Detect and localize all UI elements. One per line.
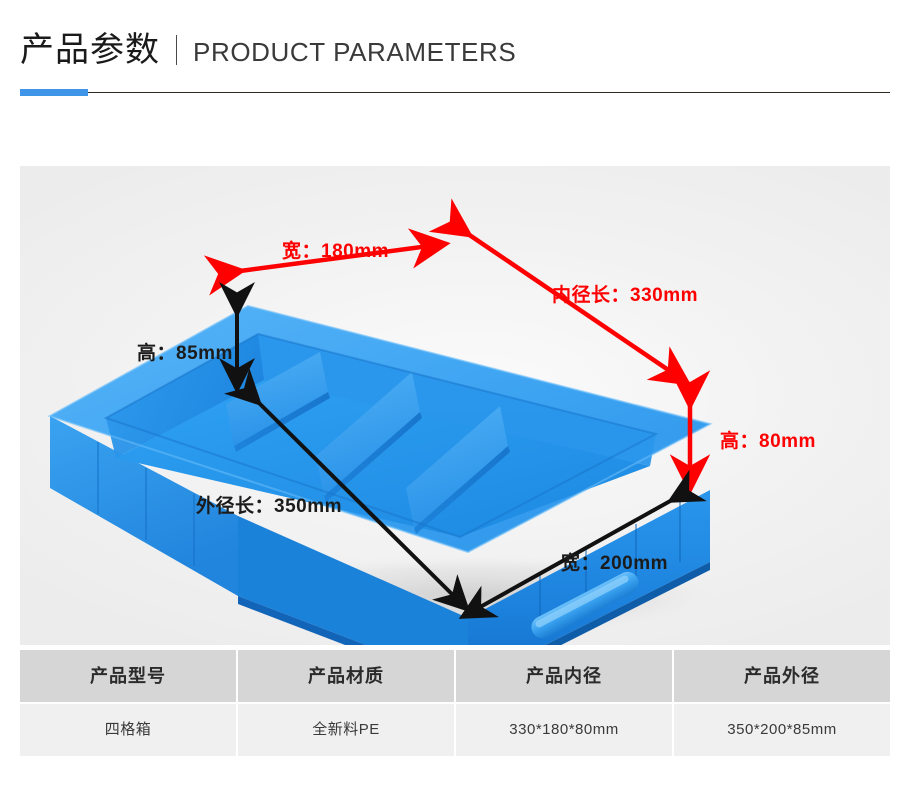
header-title-group: 产品参数 PRODUCT PARAMETERS <box>20 28 516 72</box>
header-rule-line <box>20 92 890 93</box>
table-cell-material: 全新料PE <box>238 704 454 756</box>
dimension-arrows-overlay <box>20 166 890 645</box>
table-header-cell-inner: 产品内径 <box>456 650 672 702</box>
arrow-inner-length <box>468 234 686 382</box>
label-inner-height: 高：80mm <box>720 426 816 453</box>
table-header-cell-outer: 产品外径 <box>674 650 890 702</box>
table-cell-model: 四格箱 <box>20 704 236 756</box>
header-rule-accent <box>20 89 88 96</box>
product-image-panel: 宽：180mm 内径长：330mm 高：80mm 高：85mm 外径长：350m… <box>20 166 890 645</box>
title-separator <box>176 35 177 65</box>
label-outer-height: 高：85mm <box>137 338 233 365</box>
page-header: 产品参数 PRODUCT PARAMETERS <box>20 28 890 108</box>
table-header-cell-model: 产品型号 <box>20 650 236 702</box>
page-title-cn: 产品参数 <box>20 28 160 72</box>
specification-table: 产品型号 产品材质 产品内径 产品外径 四格箱 全新料PE 330*180*80… <box>20 650 890 756</box>
label-inner-length: 内径长：330mm <box>552 280 698 307</box>
table-cell-inner: 330*180*80mm <box>456 704 672 756</box>
header-rule <box>20 89 890 97</box>
table-header-row: 产品型号 产品材质 产品内径 产品外径 <box>20 650 890 702</box>
label-inner-width: 宽：180mm <box>282 236 389 263</box>
label-outer-width: 宽：200mm <box>561 548 668 575</box>
page-title-en: PRODUCT PARAMETERS <box>193 32 516 72</box>
table-row: 四格箱 全新料PE 330*180*80mm 350*200*85mm <box>20 704 890 756</box>
table-cell-outer: 350*200*85mm <box>674 704 890 756</box>
label-outer-length: 外径长：350mm <box>196 491 342 518</box>
table-header-cell-material: 产品材质 <box>238 650 454 702</box>
